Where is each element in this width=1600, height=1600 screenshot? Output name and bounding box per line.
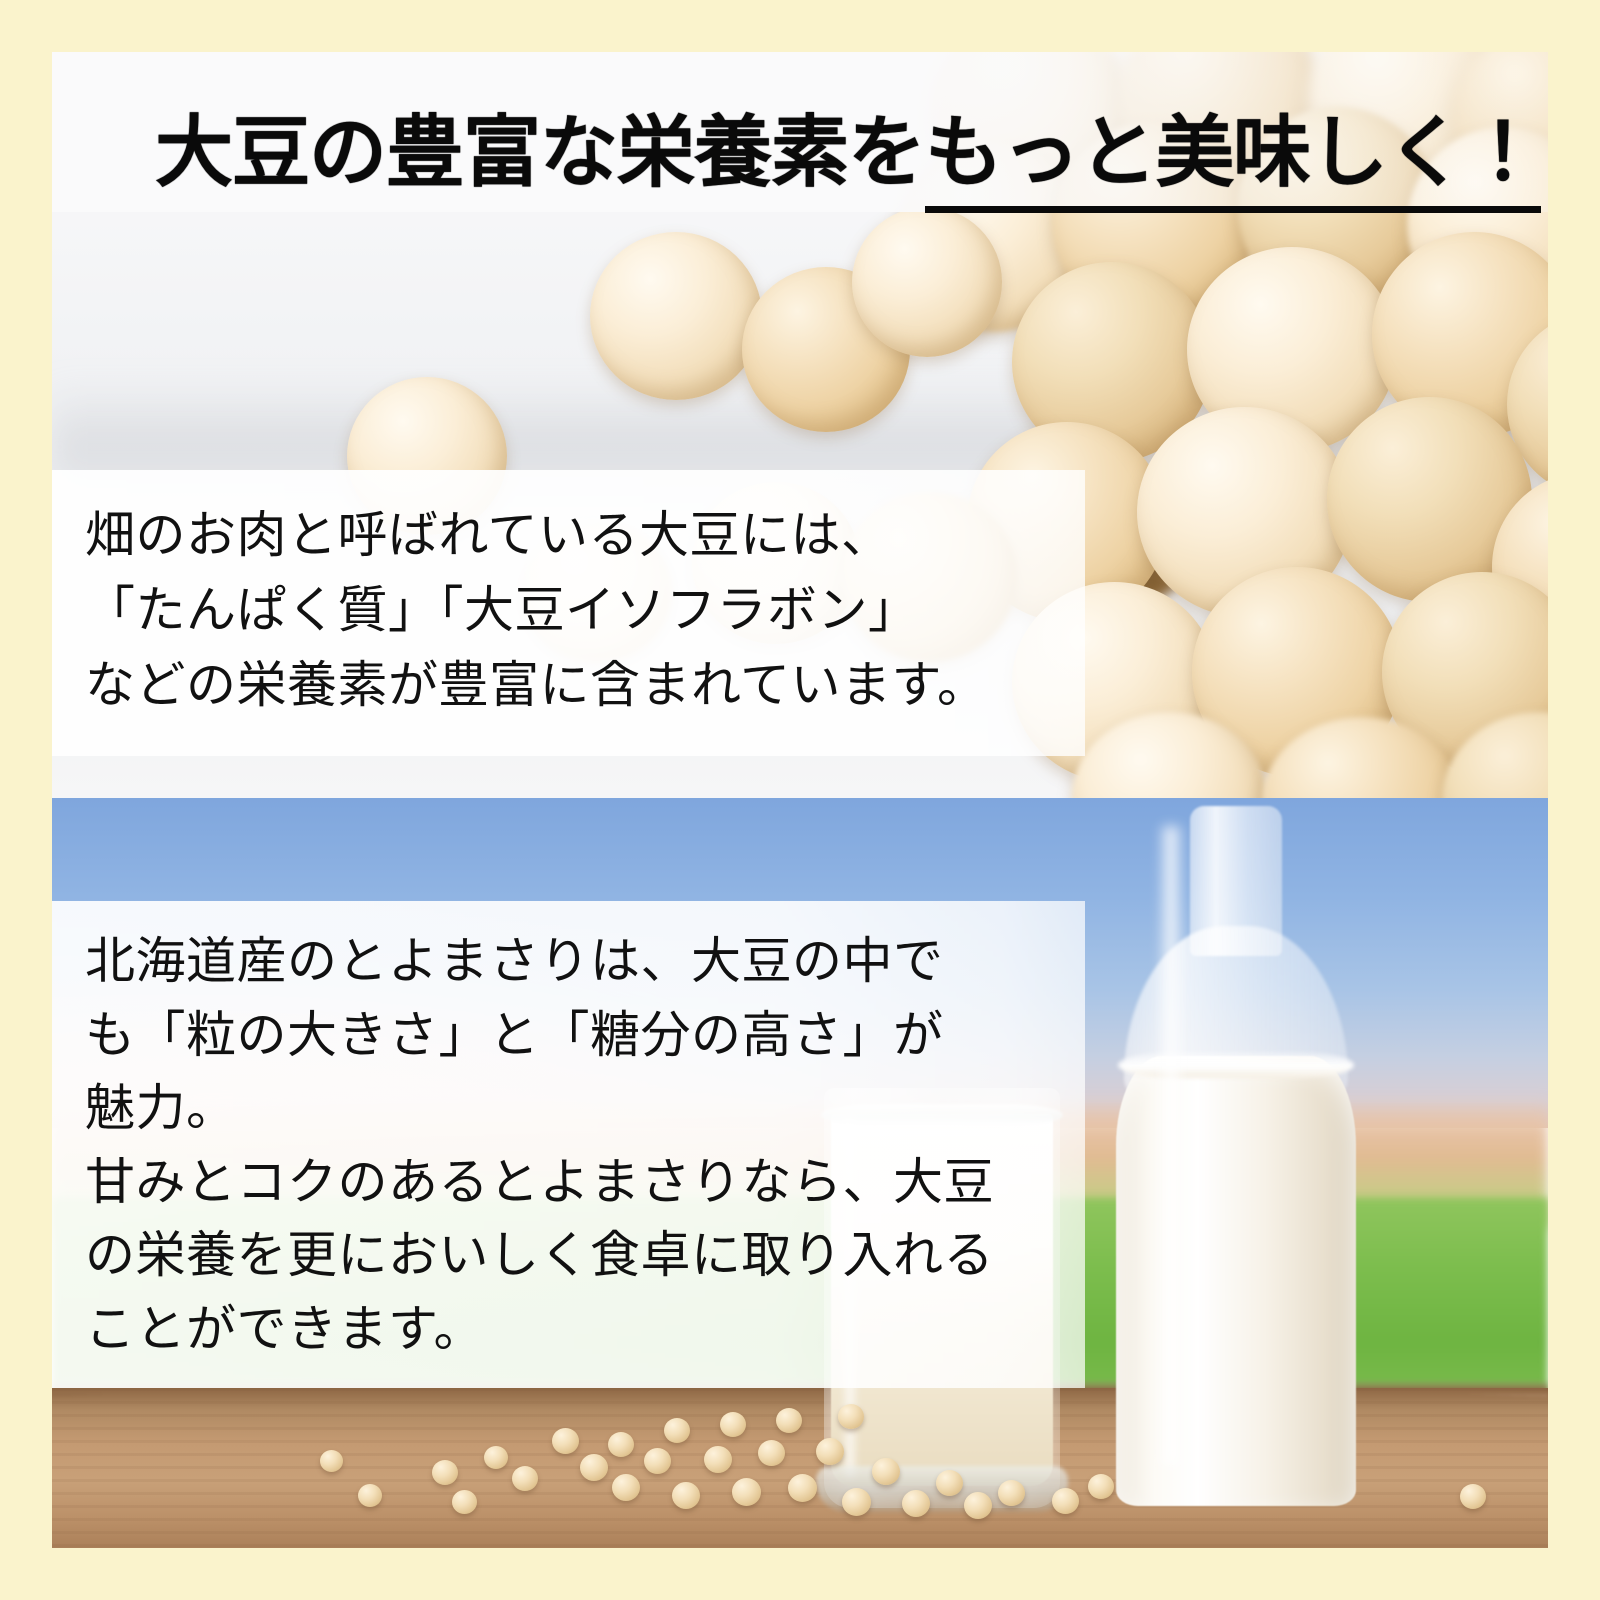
table-soybean	[842, 1488, 871, 1516]
table-soybean	[358, 1484, 382, 1507]
table-soybean	[484, 1446, 508, 1469]
table-soybean	[838, 1404, 864, 1429]
section2-paragraph: 北海道産のとよまさりは、大豆の中で も「粒の大きさ」と「糖分の高さ」が 魅力。 …	[85, 925, 994, 1366]
section1-line: などの栄養素が豊富に含まれています。	[85, 648, 988, 723]
table-soybean	[872, 1458, 900, 1485]
table-soybean	[720, 1412, 746, 1437]
section2-line: 甘みとコクのあるとよまさりなら、大豆	[85, 1146, 994, 1220]
table-soybean	[432, 1460, 458, 1485]
headline-underlined: もっと美味しく！	[925, 109, 1541, 213]
table-soybean	[998, 1480, 1025, 1506]
table-soybean	[612, 1474, 640, 1501]
table-soybean	[1460, 1484, 1486, 1509]
table-soybean	[1052, 1488, 1079, 1514]
bottle-body	[1116, 1056, 1356, 1506]
table-soybean	[452, 1490, 477, 1514]
table-soybean	[964, 1492, 992, 1519]
poster-canvas: 大豆の豊富な栄養素をもっと美味しく！ 畑のお肉と呼ばれている大豆には、 「たんぱ…	[52, 52, 1548, 1548]
table-soybean	[788, 1474, 817, 1502]
poster-root: 大豆の豊富な栄養素をもっと美味しく！ 畑のお肉と呼ばれている大豆には、 「たんぱ…	[0, 0, 1600, 1600]
table-soybean	[672, 1482, 700, 1509]
section1-line: 「たんぱく質」「大豆イソフラボン」	[85, 573, 988, 648]
section2-line: 魅力。	[85, 1072, 994, 1146]
section1-line: 畑のお肉と呼ばれている大豆には、	[85, 498, 988, 573]
soybean-isolated	[852, 207, 1002, 357]
section2-line: ことができます。	[85, 1293, 994, 1367]
bottle-highlight	[1158, 826, 1184, 1466]
table-soybean	[512, 1466, 538, 1491]
table-soybean	[580, 1454, 608, 1481]
bottle-milk-line	[1118, 1052, 1354, 1078]
table-soybean	[320, 1450, 343, 1472]
soybean-isolated	[590, 232, 762, 400]
table-soybean	[1088, 1474, 1114, 1499]
table-soybean	[644, 1448, 671, 1474]
table-soybean	[608, 1432, 634, 1457]
page-title: 大豆の豊富な栄養素をもっと美味しく！	[155, 114, 1541, 192]
section1-text-panel: 畑のお肉と呼ばれている大豆には、 「たんぱく質」「大豆イソフラボン」 などの栄養…	[52, 470, 1085, 756]
table-soybean	[552, 1428, 579, 1454]
section2-line: も「粒の大きさ」と「糖分の高さ」が	[85, 999, 994, 1073]
table-soybean	[816, 1438, 844, 1465]
section-toyomasari-origin: 北海道産のとよまさりは、大豆の中で も「粒の大きさ」と「糖分の高さ」が 魅力。 …	[52, 798, 1548, 1548]
table-soybean	[704, 1446, 732, 1473]
section1-paragraph: 畑のお肉と呼ばれている大豆には、 「たんぱく質」「大豆イソフラボン」 などの栄養…	[85, 498, 988, 723]
table-soybean	[776, 1408, 802, 1433]
table-soybean	[732, 1478, 761, 1506]
section2-line: の栄養を更においしく食卓に取り入れる	[85, 1219, 994, 1293]
headline-plain: 大豆の豊富な栄養素を	[155, 109, 925, 196]
milk-bottle	[1102, 806, 1370, 1506]
section2-line: 北海道産のとよまさりは、大豆の中で	[85, 925, 994, 999]
section2-text-panel: 北海道産のとよまさりは、大豆の中で も「粒の大きさ」と「糖分の高さ」が 魅力。 …	[52, 901, 1085, 1388]
table-soybean	[902, 1490, 930, 1517]
table-soybean	[936, 1470, 963, 1496]
section-soybean-nutrition: 大豆の豊富な栄養素をもっと美味しく！ 畑のお肉と呼ばれている大豆には、 「たんぱ…	[52, 52, 1548, 798]
table-soybean	[664, 1418, 690, 1443]
table-soybean	[758, 1440, 785, 1466]
